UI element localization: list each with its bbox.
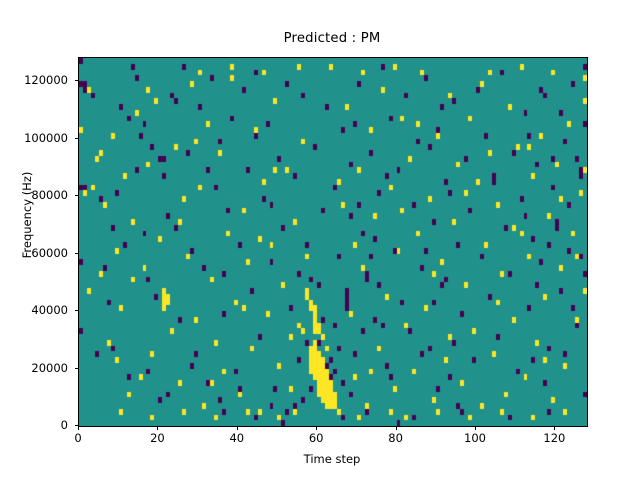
chart-title: Predicted : PM [78,30,586,48]
y-tick-mark-1 [75,368,79,369]
y-tick-mark-3 [75,253,79,254]
x-tick-mark-0 [78,426,79,430]
x-tick-mark-2 [237,426,238,430]
matplotlib-figure: Predicted : PM 0 20 40 60 80 100 120 0 2… [0,0,640,480]
y-tick-mark-2 [75,310,79,311]
x-axis-label: Time step [78,452,586,466]
x-tick-mark-1 [157,426,158,430]
x-tick-label-4: 80 [366,431,426,445]
x-tick-label-1: 20 [127,431,187,445]
x-tick-label-0: 0 [48,431,108,445]
x-tick-mark-4 [396,426,397,430]
x-tick-mark-3 [316,426,317,430]
y-tick-mark-5 [75,138,79,139]
heatmap-plot-area [78,57,588,427]
y-axis-label-container: Frequency (Hz) [19,15,35,415]
x-tick-label-3: 60 [286,431,346,445]
x-tick-label-2: 40 [207,431,267,445]
y-axis-label: Frequency (Hz) [19,15,35,415]
y-tick-mark-4 [75,195,79,196]
y-tick-label-0: 0 [0,418,68,432]
x-tick-label-5: 100 [445,431,505,445]
x-tick-label-6: 120 [524,431,584,445]
y-tick-mark-0 [75,425,79,426]
x-tick-mark-6 [554,426,555,430]
x-tick-mark-5 [475,426,476,430]
y-tick-mark-6 [75,80,79,81]
heatmap-canvas [79,58,587,426]
